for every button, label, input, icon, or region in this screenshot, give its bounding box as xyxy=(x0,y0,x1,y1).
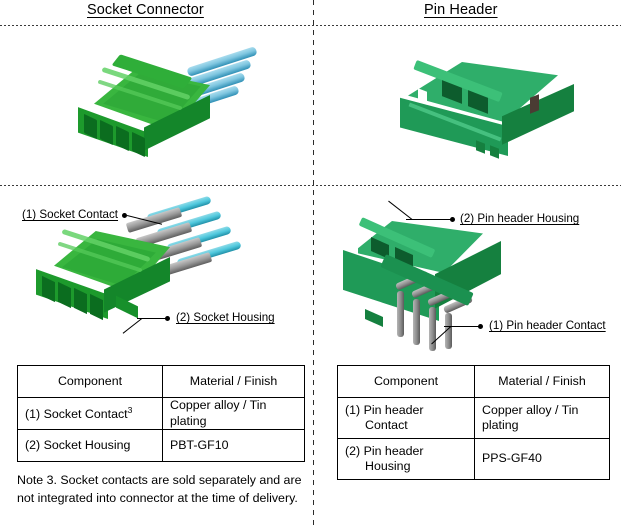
divider-vertical xyxy=(313,0,314,527)
cell-component-socket-contact-text: (1) Socket Contact xyxy=(25,407,128,421)
table-row: (2) Pin header Housing PPS-GF40 xyxy=(338,439,610,480)
page-title-pin-header: Pin Header xyxy=(424,2,498,18)
table-row: (1) Pin header Contact Copper alloy / Ti… xyxy=(338,398,610,439)
cell-component-pin-header-contact-text: (1) Pin header Contact xyxy=(345,403,467,434)
cell-material-socket-housing: PBT-GF10 xyxy=(163,430,305,462)
table-row-header: Component Material / Finish xyxy=(18,366,305,398)
socket-spec-table: Component Material / Finish (1) Socket C… xyxy=(17,365,305,462)
callout-socket-housing-label: (2) Socket Housing xyxy=(176,311,275,324)
column-header-material: Material / Finish xyxy=(163,366,305,398)
cell-material-pin-header-contact: Copper alloy / Tin plating xyxy=(475,398,610,439)
callout-socket-contact-label: (1) Socket Contact xyxy=(22,208,118,221)
table-row: (1) Socket Contact3 Copper alloy / Tin p… xyxy=(18,398,305,430)
callout-pin-header-contact-label: (1) Pin header Contact xyxy=(489,319,606,332)
callout-pin-header-housing-label: (2) Pin header Housing xyxy=(460,212,579,225)
cell-component-pin-header-contact: (1) Pin header Contact xyxy=(338,398,475,439)
cell-material-socket-contact: Copper alloy / Tin plating xyxy=(163,398,305,430)
footnote-marker: 3 xyxy=(128,405,133,415)
page-title-socket-connector: Socket Connector xyxy=(87,2,204,18)
socket-connector-image xyxy=(70,55,285,175)
column-header-component: Component xyxy=(18,366,163,398)
table-row: (2) Socket Housing PBT-GF10 xyxy=(18,430,305,462)
cell-component-pin-header-housing: (2) Pin header Housing xyxy=(338,439,475,480)
cell-component-socket-housing: (2) Socket Housing xyxy=(18,430,163,462)
cell-component-socket-contact: (1) Socket Contact3 xyxy=(18,398,163,430)
cell-material-pin-header-housing: PPS-GF40 xyxy=(475,439,610,480)
pin-header-image xyxy=(398,58,598,173)
footnote-note-3: Note 3. Socket contacts are sold separat… xyxy=(17,472,307,508)
column-header-component: Component xyxy=(338,366,475,398)
callout-pin-header-housing-leader-h xyxy=(406,219,451,220)
cell-component-pin-header-housing-text: (2) Pin header Housing xyxy=(345,444,467,475)
table-row-header: Component Material / Finish xyxy=(338,366,610,398)
divider-middle xyxy=(0,185,621,186)
divider-top xyxy=(0,25,621,26)
pin-header-spec-table: Component Material / Finish (1) Pin head… xyxy=(337,365,610,480)
column-header-material: Material / Finish xyxy=(475,366,610,398)
